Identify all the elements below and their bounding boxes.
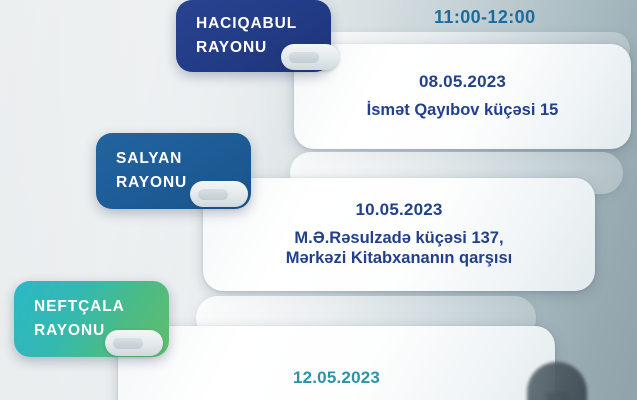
card-date-3: 12.05.2023 [293, 369, 380, 388]
card-address-2: M.Ə.Rəsulzadə küçəsi 137, Mərkəzi Kitabx… [272, 228, 527, 268]
card-address-2-line2: Mərkəzi Kitabxananın qarşısı [286, 248, 513, 268]
connector-clip-2 [190, 181, 248, 207]
session-time-label: 11:00-12:00 [434, 7, 535, 28]
district-tab-salyan-name: SALYAN [116, 147, 251, 171]
connector-clip-inner-1 [289, 52, 319, 63]
connector-clip-inner-3 [113, 338, 143, 349]
district-tab-haciqabul-name: HACIQABUL [196, 12, 331, 36]
info-card-salyan: 10.05.2023 M.Ə.Rəsulzadə küçəsi 137, Mər… [203, 178, 595, 291]
info-card-neftcala: 12.05.2023 [118, 326, 555, 400]
connector-clip-1 [281, 44, 339, 70]
info-card-haciqabul: 08.05.2023 İsmət Qayıbov küçəsi 15 [294, 44, 631, 149]
poster-canvas: 11:00-12:00 08.05.2023 İsmət Qayıbov küç… [0, 0, 637, 400]
card-date-2: 10.05.2023 [355, 201, 442, 220]
district-tab-neftcala-name: NEFTÇALA [34, 295, 169, 319]
card-address-2-line1: M.Ə.Rəsulzadə küçəsi 137, [286, 228, 513, 248]
card-date-1: 08.05.2023 [419, 73, 506, 92]
connector-clip-inner-2 [198, 189, 228, 200]
card-address-1: İsmət Qayıbov küçəsi 15 [353, 100, 573, 120]
connector-clip-3 [105, 330, 163, 356]
